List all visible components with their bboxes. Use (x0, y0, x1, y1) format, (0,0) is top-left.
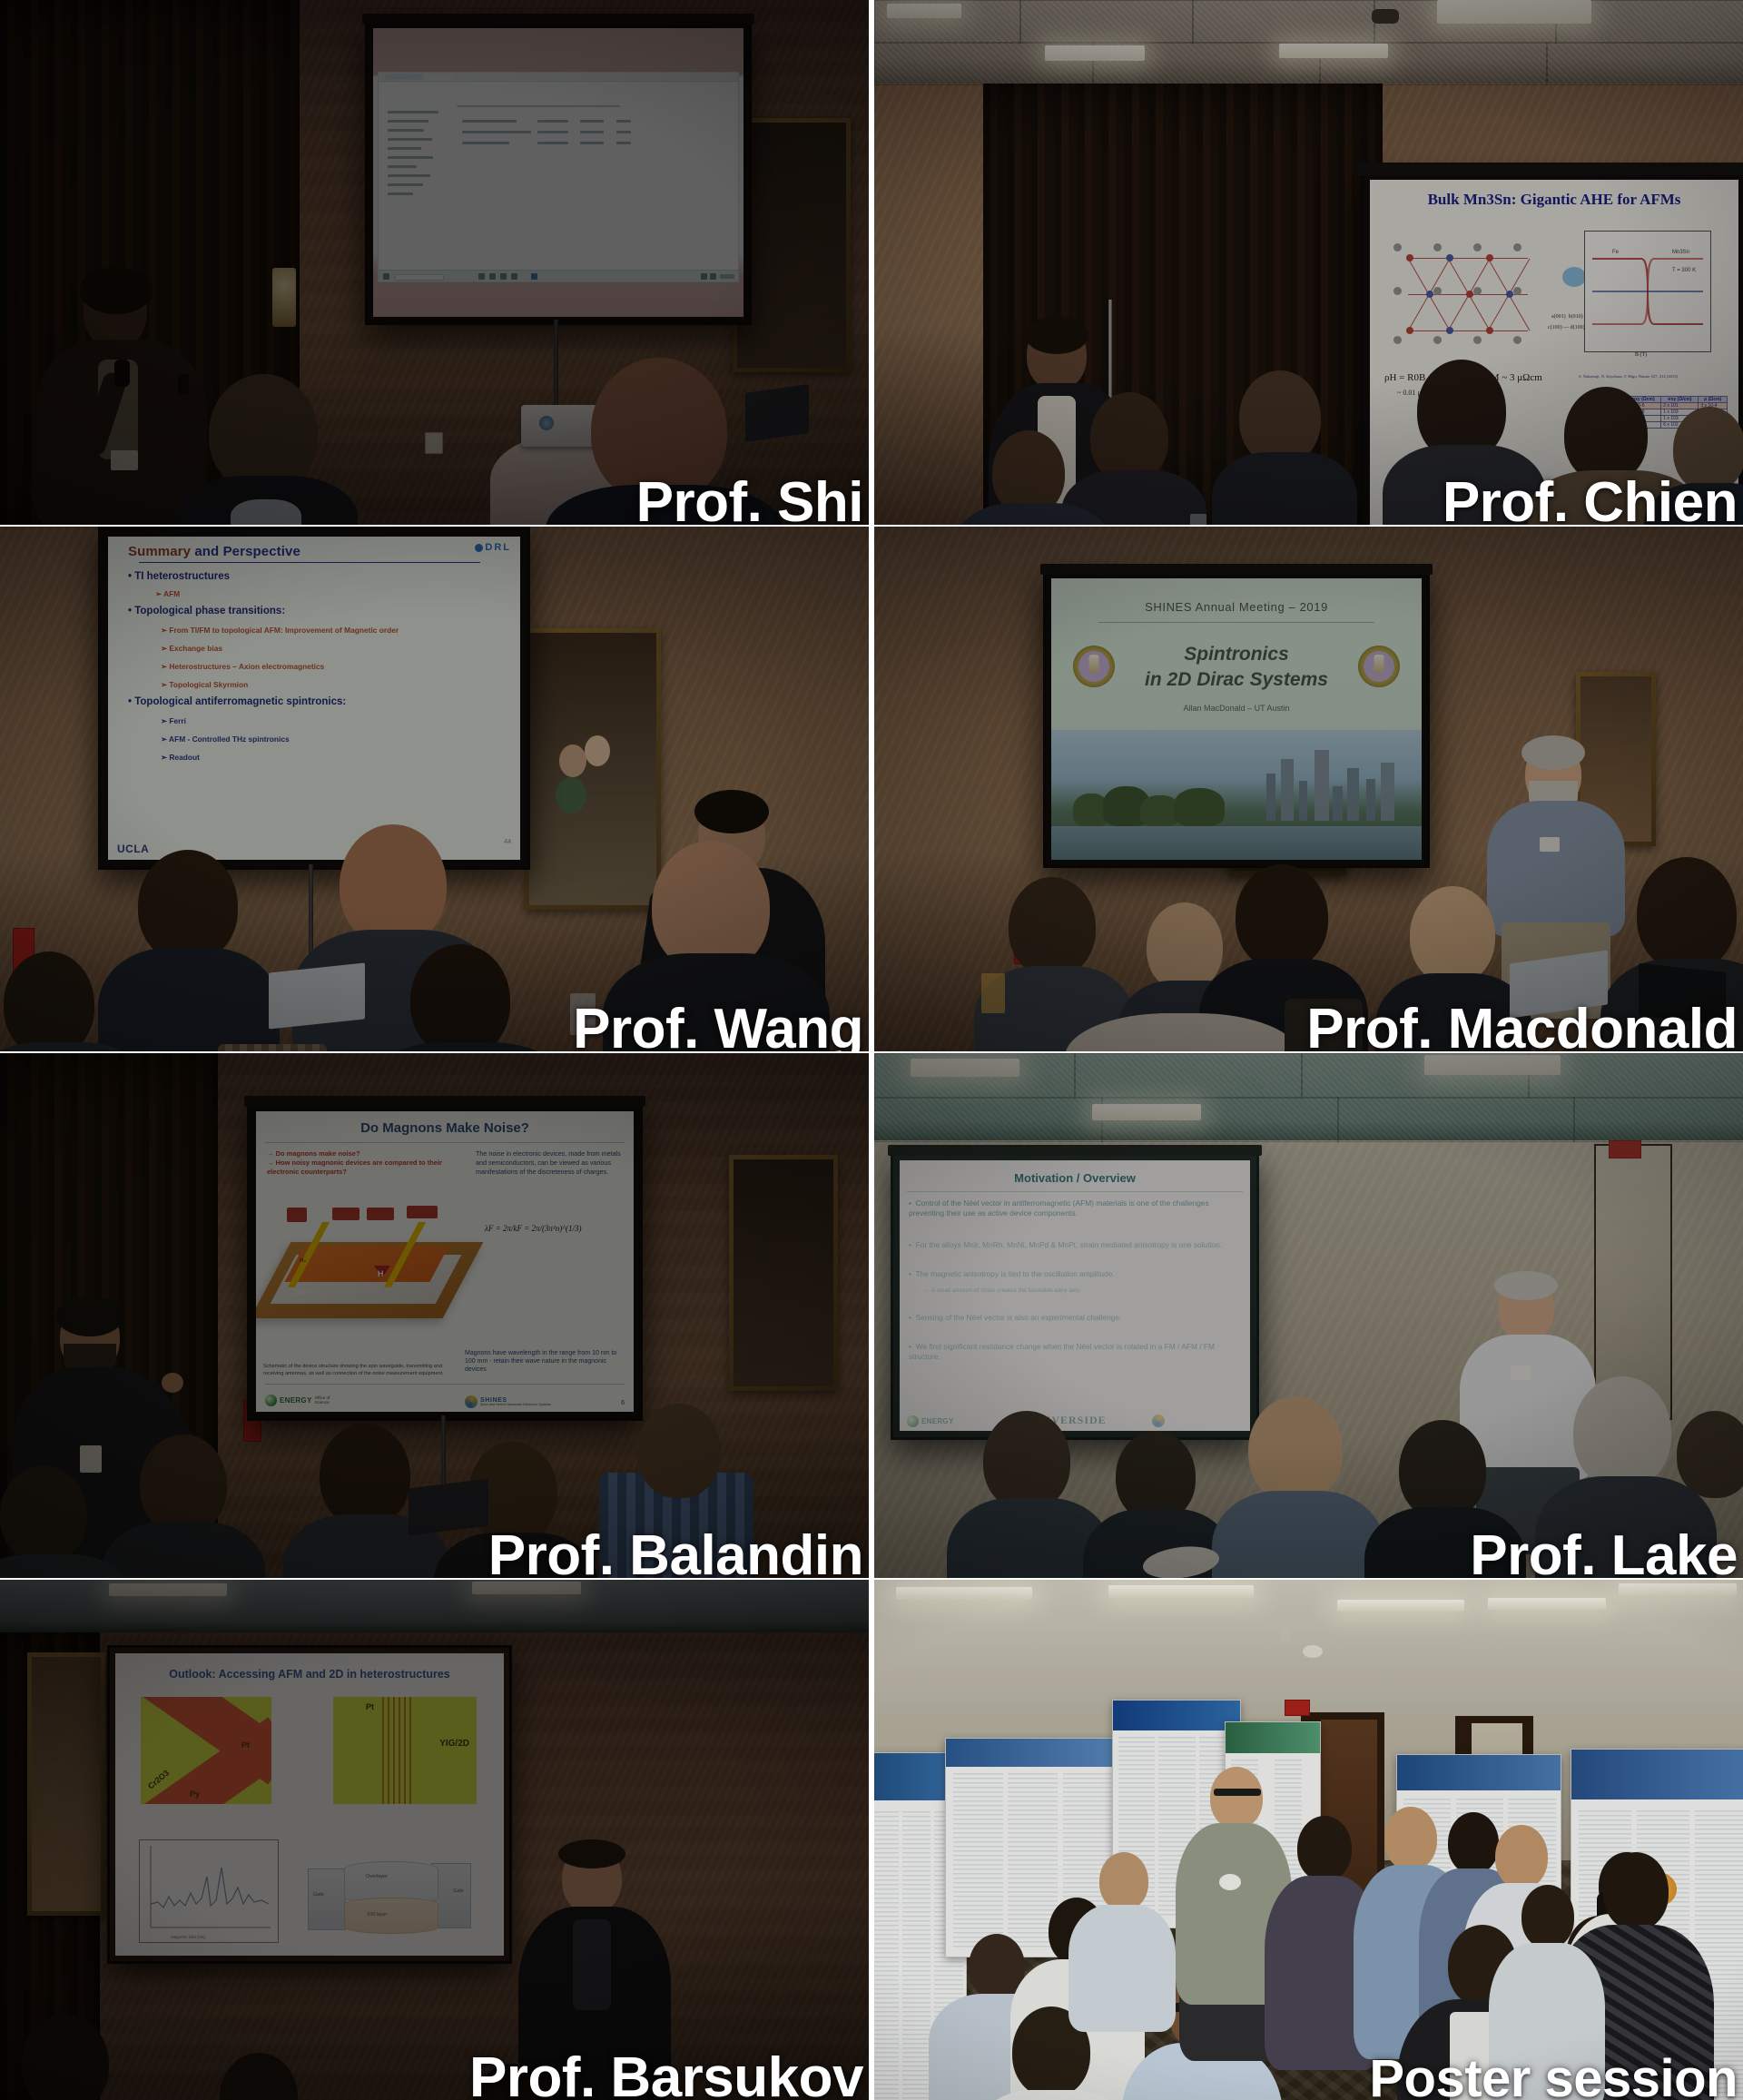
vignette (874, 1580, 1743, 2100)
scene-barsukov: Outlook: Accessing AFM and 2D in heteros… (0, 1580, 869, 2100)
panel-balandin[interactable]: Do Magnons Make Noise? → Do magnons make… (0, 1053, 869, 1578)
vignette (874, 0, 1743, 525)
panel-wang[interactable]: Summary and Perspective DRL • TI heteros… (0, 527, 869, 1051)
panel-shi[interactable]: Prof. Shi (0, 0, 869, 525)
panel-lake[interactable]: Motivation / Overview • Control of the N… (874, 1053, 1743, 1578)
vignette (0, 0, 869, 525)
scene-chien: Bulk Mn3Sn: Gigantic AHE for AFMs (874, 0, 1743, 525)
scene-balandin: Do Magnons Make Noise? → Do magnons make… (0, 1053, 869, 1578)
photo-montage-grid: Prof. Shi (0, 0, 1743, 2100)
panel-poster-session[interactable]: Poster session (874, 1580, 1743, 2100)
scene-lake: Motivation / Overview • Control of the N… (874, 1053, 1743, 1578)
vignette (0, 1580, 869, 2100)
scene-macdonald: SHINES Annual Meeting – 2019 Spintronics… (874, 527, 1743, 1051)
scene-wang: Summary and Perspective DRL • TI heteros… (0, 527, 869, 1051)
scene-poster-session (874, 1580, 1743, 2100)
scene-shi (0, 0, 869, 525)
vignette (0, 527, 869, 1051)
panel-macdonald[interactable]: SHINES Annual Meeting – 2019 Spintronics… (874, 527, 1743, 1051)
vignette (0, 1053, 869, 1578)
panel-barsukov[interactable]: Outlook: Accessing AFM and 2D in heteros… (0, 1580, 869, 2100)
vignette (874, 527, 1743, 1051)
vignette (874, 1053, 1743, 1578)
panel-chien[interactable]: Bulk Mn3Sn: Gigantic AHE for AFMs (874, 0, 1743, 525)
